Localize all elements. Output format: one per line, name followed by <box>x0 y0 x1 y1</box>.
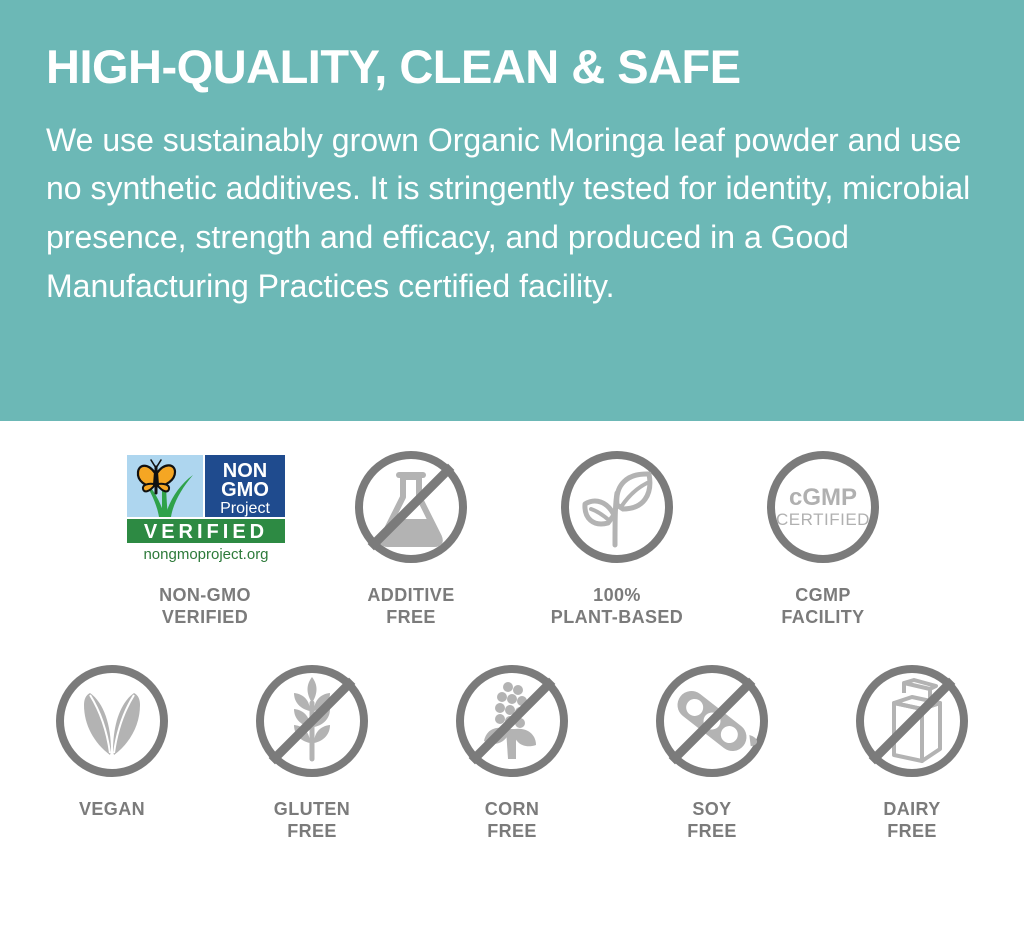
badge-label: VEGAN <box>79 799 145 821</box>
logo-text-gmo: GMO <box>221 479 269 501</box>
badge-label: CGMP FACILITY <box>781 585 864 629</box>
badge-plant-based: 100% PLANT-BASED <box>517 443 717 629</box>
badge-soy-free: SOY FREE <box>612 657 812 843</box>
badge-label: ADDITIVE FREE <box>367 585 454 629</box>
badge-label: DAIRY FREE <box>883 799 940 843</box>
badge-art <box>250 657 374 785</box>
badge-vegan: VEGAN <box>12 657 212 821</box>
corn-no-slash-icon <box>450 659 574 783</box>
badge-cgmp-facility: cGMP CERTIFIED CGMP FACILITY <box>723 443 923 629</box>
badge-art <box>349 443 473 571</box>
two-leaves-icon <box>50 659 174 783</box>
milk-carton-no-slash-icon <box>850 659 974 783</box>
badge-additive-free: ADDITIVE FREE <box>311 443 511 629</box>
badge-label: NON-GMO VERIFIED <box>159 585 251 629</box>
badge-label: CORN FREE <box>485 799 540 843</box>
hero-banner: HIGH-QUALITY, CLEAN & SAFE We use sustai… <box>0 0 1024 421</box>
badge-row-2: VEGAN <box>0 657 1024 843</box>
logo-text-project: Project <box>220 500 270 517</box>
badge-art <box>450 657 574 785</box>
badge-art <box>555 443 679 571</box>
badge-label: SOY FREE <box>687 799 737 843</box>
badge-art: NON GMO Project VERIFIED nongmoproject.o… <box>121 443 289 571</box>
logo-text-verified: VERIFIED <box>144 521 268 543</box>
sprout-leaf-icon <box>555 445 679 569</box>
hero-description: We use sustainably grown Organic Moringa… <box>46 116 978 311</box>
cgmp-certified-ring-icon: cGMP CERTIFIED <box>761 445 885 569</box>
non-gmo-project-verified-logo: NON GMO Project VERIFIED nongmoproject.o… <box>121 451 289 563</box>
cgmp-text-line2: CERTIFIED <box>776 510 870 529</box>
badge-non-gmo-verified: NON GMO Project VERIFIED nongmoproject.o… <box>105 443 305 629</box>
badge-row-1: NON GMO Project VERIFIED nongmoproject.o… <box>0 443 1024 629</box>
cgmp-text-line1: cGMP <box>789 484 857 511</box>
badge-art <box>50 657 174 785</box>
logo-text-url: nongmoproject.org <box>143 546 268 563</box>
badge-label: 100% PLANT-BASED <box>551 585 683 629</box>
badge-art <box>650 657 774 785</box>
flask-no-slash-icon <box>349 445 473 569</box>
badge-dairy-free: DAIRY FREE <box>812 657 1012 843</box>
wheat-no-slash-icon <box>250 659 374 783</box>
page-title: HIGH-QUALITY, CLEAN & SAFE <box>46 42 978 92</box>
badge-gluten-free: GLUTEN FREE <box>212 657 412 843</box>
soybean-no-slash-icon <box>650 659 774 783</box>
badge-art <box>850 657 974 785</box>
badge-art: cGMP CERTIFIED <box>761 443 885 571</box>
badge-corn-free: CORN FREE <box>412 657 612 843</box>
certification-badges: NON GMO Project VERIFIED nongmoproject.o… <box>0 421 1024 952</box>
badge-label: GLUTEN FREE <box>274 799 350 843</box>
